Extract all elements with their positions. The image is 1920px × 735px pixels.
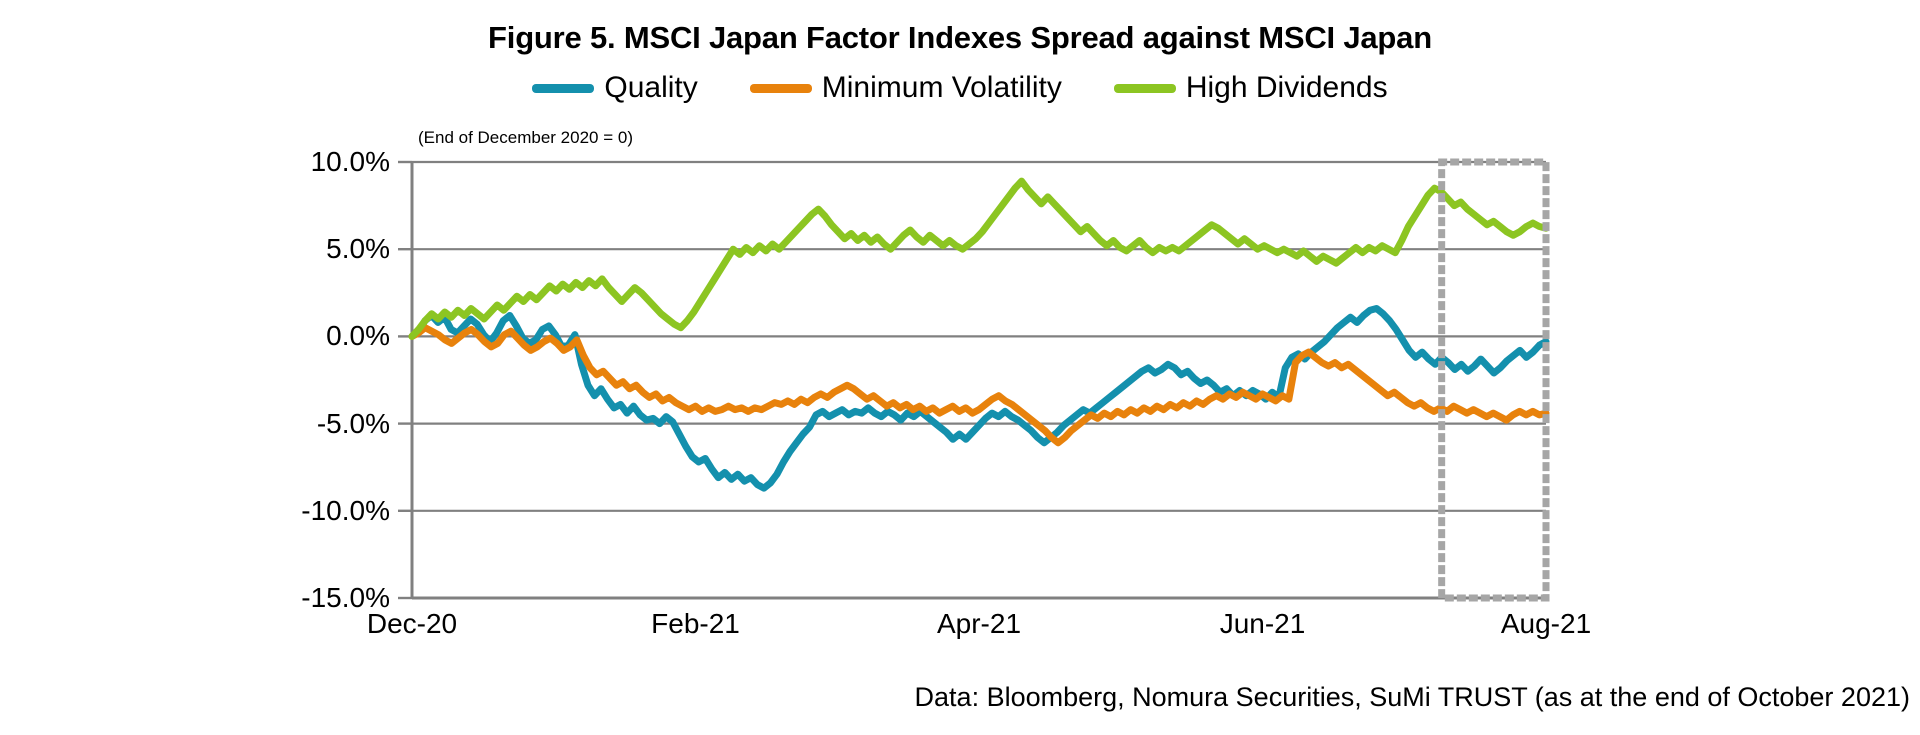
axes-group xyxy=(398,162,412,598)
x-tick-label: Aug-21 xyxy=(1501,608,1591,640)
y-tick-label: 10.0% xyxy=(311,146,390,178)
y-tick-label: -10.0% xyxy=(301,495,390,527)
plot-area: 10.0%5.0%0.0%-5.0%-10.0%-15.0% Dec-20Feb… xyxy=(0,0,1920,735)
x-tick-label: Dec-20 xyxy=(367,608,457,640)
x-tick-label: Jun-21 xyxy=(1220,608,1306,640)
gridlines-group xyxy=(412,162,1546,598)
y-tick-label: 0.0% xyxy=(326,320,390,352)
x-tick-label: Feb-21 xyxy=(651,608,740,640)
series-line-high-dividends xyxy=(412,181,1546,336)
source-note: Data: Bloomberg, Nomura Securities, SuMi… xyxy=(915,682,1910,713)
figure-container: Figure 5. MSCI Japan Factor Indexes Spre… xyxy=(0,0,1920,735)
x-tick-label: Apr-21 xyxy=(937,608,1021,640)
y-tick-label: 5.0% xyxy=(326,233,390,265)
y-tick-label: -5.0% xyxy=(317,408,390,440)
series-group xyxy=(412,181,1546,488)
